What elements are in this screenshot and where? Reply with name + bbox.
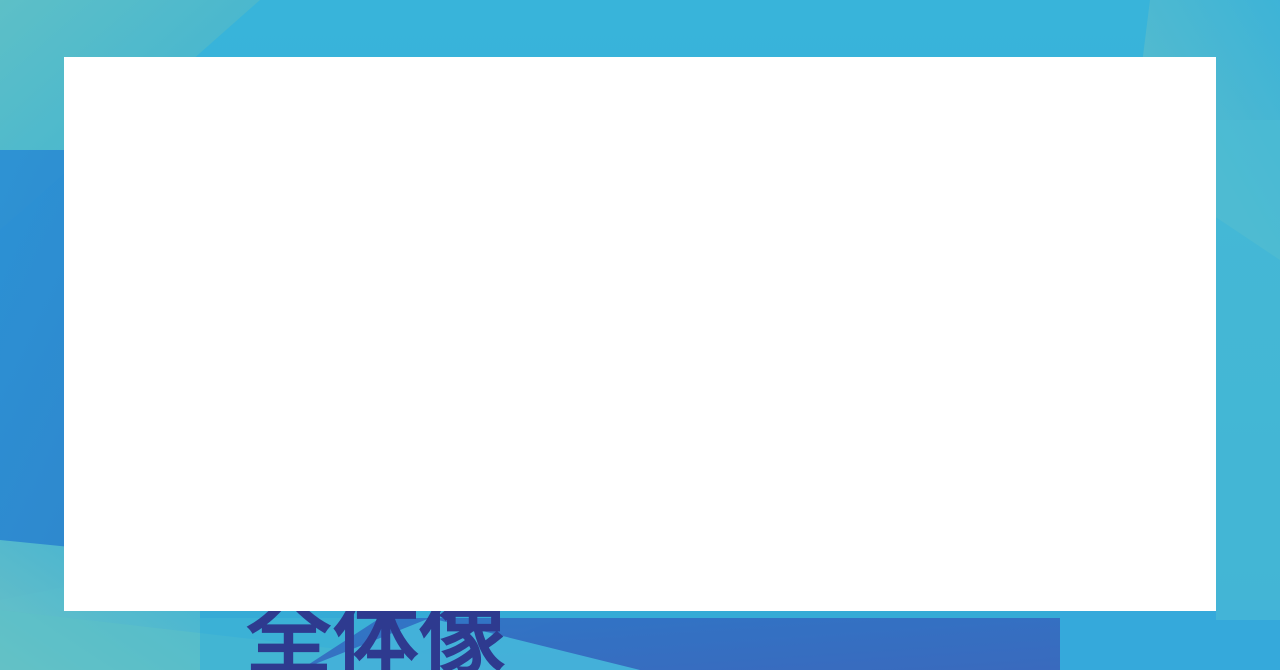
content-card bbox=[64, 57, 1216, 611]
poster-canvas: 生産管理の 全体像 受注生産・個別生産の現場で機能する考え方と 実践ポイント .… bbox=[0, 0, 1280, 670]
